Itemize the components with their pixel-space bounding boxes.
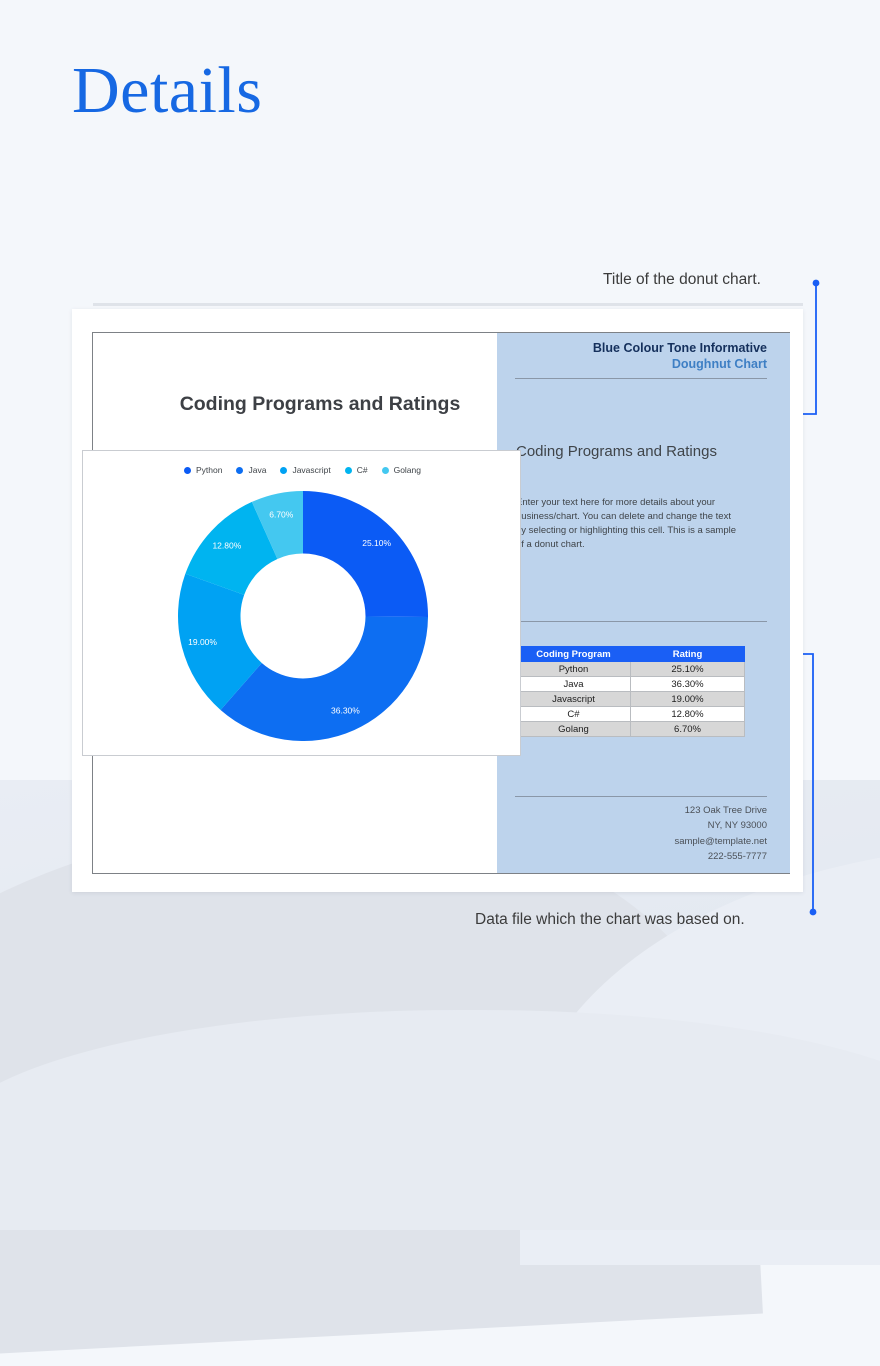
table-cell-rating[interactable]: 19.00% — [631, 692, 745, 707]
doughnut-slice[interactable] — [303, 491, 428, 617]
legend-swatch-icon — [280, 467, 287, 474]
chart-object[interactable]: PythonJavaJavascriptC#Golang 25.10%36.30… — [82, 450, 521, 756]
footer-email[interactable]: sample@template.net — [515, 834, 767, 849]
panel-subject: Coding Programs and Ratings — [516, 443, 776, 460]
callout-label-data-file: Data file which the chart was based on. — [475, 911, 745, 929]
table-header-cell-program[interactable]: Coding Program — [517, 647, 631, 662]
document-top-rule — [93, 303, 803, 306]
panel-footer-contact: 123 Oak Tree Drive NY, NY 93000 sample@t… — [515, 803, 767, 865]
panel-divider-bottom — [515, 796, 767, 797]
chart-legend: PythonJavaJavascriptC#Golang — [83, 465, 522, 475]
legend-swatch-icon — [236, 467, 243, 474]
chart-title: Coding Programs and Ratings — [140, 393, 500, 416]
legend-swatch-icon — [184, 467, 191, 474]
doughnut-slice-label: 25.10% — [362, 538, 391, 548]
table-cell-rating[interactable]: 12.80% — [631, 707, 745, 722]
background-swoosh-bottom — [0, 1010, 880, 1230]
table-row[interactable]: Javascript 19.00% — [517, 692, 745, 707]
footer-city-state-zip: NY, NY 93000 — [515, 818, 767, 833]
leader-line-data-file — [806, 648, 836, 928]
doughnut-slice-label: 6.70% — [269, 510, 294, 520]
panel-divider-top — [515, 378, 767, 379]
legend-label: Java — [248, 465, 266, 475]
legend-item[interactable]: Golang — [382, 465, 421, 475]
table-cell-rating[interactable]: 6.70% — [631, 722, 745, 737]
legend-swatch-icon — [382, 467, 389, 474]
footer-street: 123 Oak Tree Drive — [515, 803, 767, 818]
data-table-container[interactable]: Coding Program Rating Python 25.10% Java… — [516, 646, 745, 737]
panel-body-text: Enter your text here for more details ab… — [516, 496, 738, 552]
legend-item[interactable]: Javascript — [280, 465, 330, 475]
legend-swatch-icon — [345, 467, 352, 474]
table-row[interactable]: Python 25.10% — [517, 662, 745, 677]
table-row[interactable]: C# 12.80% — [517, 707, 745, 722]
doughnut-slice-label: 36.30% — [331, 706, 360, 716]
legend-label: C# — [357, 465, 368, 475]
doughnut-slice[interactable] — [221, 616, 428, 741]
doughnut-slice-label: 12.80% — [212, 541, 241, 551]
table-cell-program[interactable]: Javascript — [517, 692, 631, 707]
panel-title-block: Blue Colour Tone Informative Doughnut Ch… — [515, 341, 767, 372]
page-title: Details — [72, 58, 262, 124]
legend-label: Python — [196, 465, 222, 475]
legend-item[interactable]: Java — [236, 465, 266, 475]
callout-label-title: Title of the donut chart. — [603, 271, 761, 289]
info-panel: Blue Colour Tone Informative Doughnut Ch… — [497, 333, 790, 873]
table-header-cell-rating[interactable]: Rating — [631, 647, 745, 662]
table-cell-rating[interactable]: 36.30% — [631, 677, 745, 692]
table-row[interactable]: Golang 6.70% — [517, 722, 745, 737]
doughnut-slice-label: 19.00% — [188, 637, 217, 647]
data-table[interactable]: Coding Program Rating Python 25.10% Java… — [516, 646, 745, 737]
table-row[interactable]: Java 36.30% — [517, 677, 745, 692]
legend-item[interactable]: Python — [184, 465, 222, 475]
panel-title-sub: Doughnut Chart — [515, 357, 767, 373]
table-cell-program[interactable]: Python — [517, 662, 631, 677]
doughnut-svg[interactable]: 25.10%36.30%19.00%12.80%6.70% — [178, 491, 428, 741]
legend-item[interactable]: C# — [345, 465, 368, 475]
table-cell-program[interactable]: Java — [517, 677, 631, 692]
table-header-row: Coding Program Rating — [517, 647, 745, 662]
footer-phone: 222-555-7777 — [515, 849, 767, 864]
doughnut-chart[interactable]: 25.10%36.30%19.00%12.80%6.70% — [178, 491, 428, 741]
panel-divider-middle — [515, 621, 767, 622]
legend-label: Javascript — [292, 465, 330, 475]
legend-label: Golang — [394, 465, 421, 475]
leader-line-title — [806, 275, 836, 425]
table-cell-rating[interactable]: 25.10% — [631, 662, 745, 677]
panel-title-main: Blue Colour Tone Informative — [515, 341, 767, 357]
table-cell-program[interactable]: C# — [517, 707, 631, 722]
table-cell-program[interactable]: Golang — [517, 722, 631, 737]
